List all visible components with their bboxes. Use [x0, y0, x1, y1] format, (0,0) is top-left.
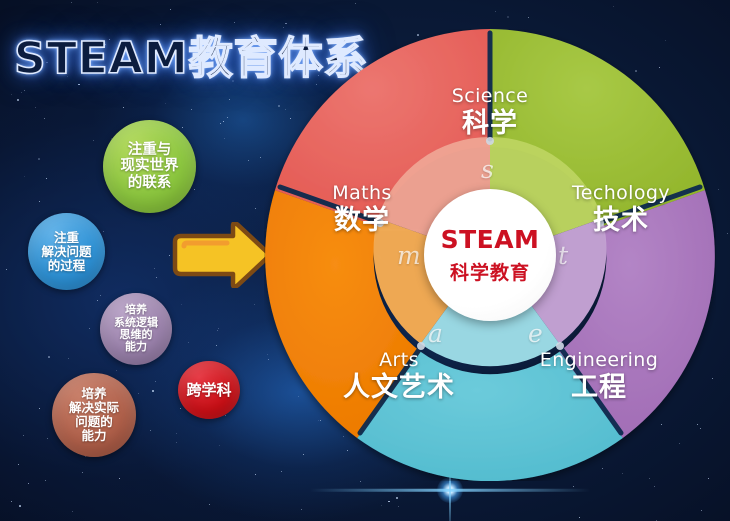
bubble-cross-subject-label: 跨学科: [178, 382, 239, 399]
bubble-practical-label: 培养解决实际问题的能力: [61, 387, 127, 443]
bubble-real-world[interactable]: 注重与现实世界的联系: [103, 120, 196, 213]
flow-arrow-icon: [170, 222, 272, 288]
bubble-cross-subject[interactable]: 跨学科: [178, 361, 240, 419]
hub-title-en: STEAM: [441, 225, 540, 254]
wheel-hub[interactable]: STEAM 科学教育: [424, 189, 556, 321]
bubble-logic-label: 培养系统逻辑思维的能力: [106, 304, 166, 353]
bubble-process-label: 注重解决问题的过程: [33, 231, 99, 273]
steam-wheel: Science 科学 Techology 技术 Engineering 工程 A…: [264, 29, 716, 481]
bubble-practical[interactable]: 培养解决实际问题的能力: [52, 373, 136, 457]
bubble-real-world-label: 注重与现实世界的联系: [113, 142, 187, 191]
hub-title-cn: 科学教育: [450, 258, 530, 285]
bubble-logic[interactable]: 培养系统逻辑思维的能力: [100, 293, 172, 365]
bubble-process[interactable]: 注重解决问题的过程: [28, 213, 105, 290]
infographic-canvas: STEAM教育体系 注重与现实世界的联系 注重解决问题的过程 培养系统逻辑思维的…: [0, 0, 730, 521]
